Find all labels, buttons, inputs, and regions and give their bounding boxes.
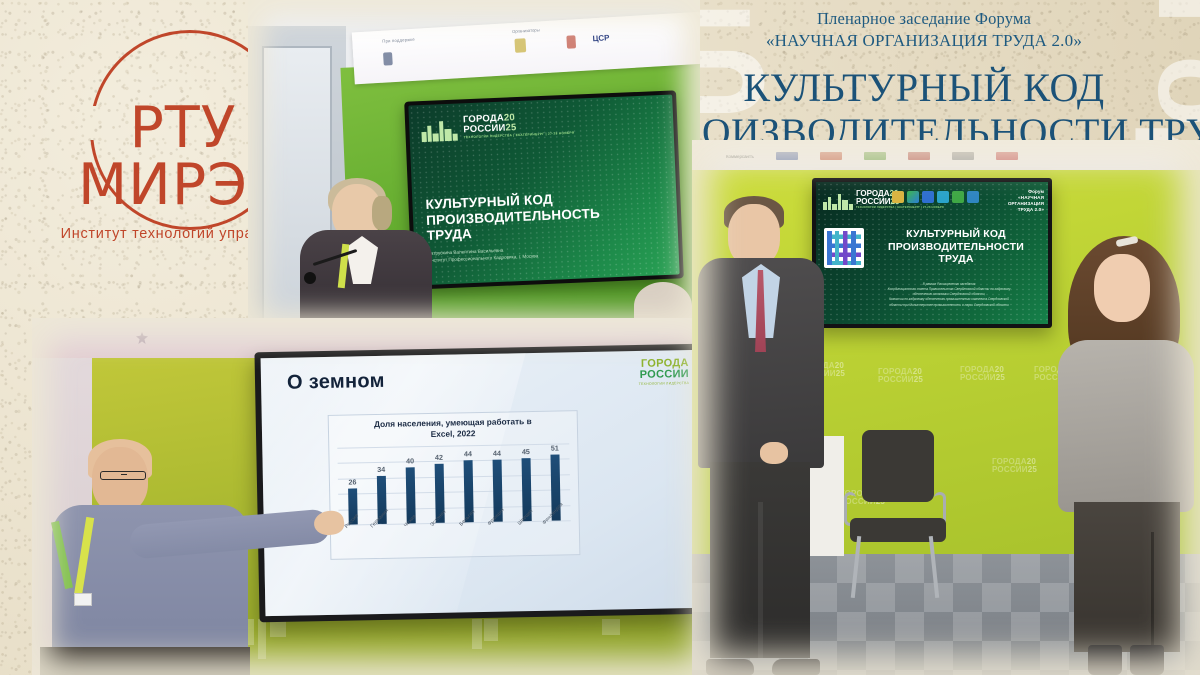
- center-logo-text: ГОРОДА20 РОССИИ25 ТЕХНОЛОГИИ ЛИДЕРСТВА |…: [463, 111, 575, 140]
- r-man-head: [728, 204, 780, 266]
- bl-slide: О земном ГОРОДА РОССИИ ТЕХНОЛОГИИ ЛИДЕРС…: [261, 350, 704, 616]
- r-foot-2: Координационного совета Правительства Св…: [888, 287, 1011, 291]
- banner-label-left: При поддержке: [382, 37, 415, 44]
- r-top-sponsor-logos: Коммерсантъ: [726, 152, 1018, 160]
- r-wall-watermark-4: ГОРОДА20 РОССИИ25: [992, 458, 1037, 474]
- photo-bottomleft-presenter: О земном ГОРОДА РОССИИ ТЕХНОЛОГИИ ЛИДЕРС…: [32, 318, 712, 675]
- bl-tv-screen: О земном ГОРОДА РОССИИ ТЕХНОЛОГИИ ЛИДЕРС…: [254, 344, 709, 623]
- r-woman-sweater: [1058, 340, 1194, 512]
- r-wm4-y2: 25: [1028, 465, 1037, 474]
- badge-blue-icon: [922, 191, 934, 203]
- chair-back: [862, 430, 934, 502]
- skyline-icon: [421, 118, 460, 142]
- r-foot-3: обеспечению экономики Свердловской облас…: [913, 292, 986, 296]
- chart-bar-group: 40: [397, 446, 424, 523]
- r-man-trousers: [710, 462, 810, 658]
- r-woman-head: [1094, 254, 1150, 322]
- r-slide-footer: В рамках Расширенного заседания Координа…: [860, 282, 1038, 308]
- r-sponsor-logo-6-icon: [996, 152, 1018, 160]
- center-tv-screen: ГОРОДА20 РОССИИ25 ТЕХНОЛОГИИ ЛИДЕРСТВА |…: [404, 90, 684, 289]
- chart-category-wrap: Германия: [370, 524, 396, 556]
- r-sponsor-logo-2-icon: [820, 152, 842, 160]
- r-man-hands: [760, 442, 788, 464]
- photo-right-two-people: Коммерсантъ ГОРОДА20 РОССИИ25 ГОРОДА20 Р…: [692, 140, 1200, 675]
- center-speaker-figure: [300, 184, 432, 330]
- r-sponsor-logo-4-icon: [908, 152, 930, 160]
- kicker-line-2: «НАУЧНАЯ ОРГАНИЗАЦИЯ ТРУДА 2.0»: [650, 30, 1198, 53]
- r-woman-boot-left: [1088, 645, 1122, 675]
- r-wm4-l2: РОССИИ: [992, 465, 1028, 474]
- r-sponsor-logo-3-icon: [864, 152, 886, 160]
- badge-green-blue-icon: [907, 191, 919, 203]
- r-top-banner-label: Коммерсантъ: [726, 154, 754, 159]
- r-man-shoe-right: [772, 659, 820, 675]
- center-slide: ГОРОДА20 РОССИИ25 ТЕХНОЛОГИИ ЛИДЕРСТВА |…: [408, 95, 679, 286]
- r-forum-4: ТРУДА 2.0»: [1018, 207, 1044, 212]
- center-slide-title-3: ТРУДА: [426, 226, 472, 243]
- chart-category-wrap: Бельгия: [456, 522, 482, 554]
- bl-presenter-figure: [46, 425, 296, 675]
- chart-title-line1: Доля населения, умеющая работать в: [374, 416, 532, 429]
- chart-category-wrap: Швеция: [514, 521, 540, 553]
- center-logo-line2: РОССИИ: [463, 122, 506, 135]
- bl-logo-tagline: ТЕХНОЛОГИИ ЛИДЕРСТВА: [639, 381, 689, 386]
- chart-bar-value: 51: [551, 444, 559, 453]
- chart-category-wrap: Франция: [485, 521, 511, 553]
- r-foot-4: Комиссии по кадровому обеспечению промыш…: [889, 297, 1009, 301]
- r-forum-2: «НАУЧНАЯ: [1018, 195, 1044, 200]
- chart-bar-value: 34: [377, 465, 385, 474]
- chart-title-line2: Excel, 2022: [431, 428, 476, 439]
- chart-bar-value: 42: [435, 453, 443, 462]
- r-man-shoe-left: [706, 659, 754, 675]
- chart-category-wrap: Россия: [341, 524, 367, 556]
- badge-green-icon: [952, 191, 964, 203]
- r-wall-watermark-3: ГОРОДА20 РОССИИ25: [960, 366, 1005, 382]
- headline-block: Пленарное заседание Форума «НАУЧНАЯ ОРГА…: [650, 8, 1198, 155]
- title-line-1: КУЛЬТУРНЫЙ КОД: [743, 65, 1104, 110]
- chart-category-wrap: Эстония: [427, 523, 453, 555]
- r-foot-1: В рамках Расширенного заседания: [923, 282, 976, 286]
- r-wm3-l2: РОССИИ: [960, 373, 996, 382]
- r-slide-title-2: ПРОИЗВОДИТЕЛЬНОСТИ: [888, 241, 1024, 253]
- center-speaker-hair-side: [372, 196, 392, 230]
- badge-azure-icon: [967, 191, 979, 203]
- r-slide-forum-label: Форум «НАУЧНАЯ ОРГАНИЗАЦИЯ ТРУДА 2.0»: [1008, 189, 1044, 213]
- r-sponsor-logo-5-icon: [952, 152, 974, 160]
- r-wm2-l2: РОССИИ: [878, 375, 914, 384]
- r-chair: [840, 430, 950, 605]
- r-woman-boot-right: [1130, 645, 1164, 675]
- r-wm1-y2: 25: [836, 369, 845, 378]
- bl-presenter-badge: [74, 593, 92, 606]
- bl-slide-title: О земном: [287, 370, 385, 395]
- r-man-figure: [698, 190, 824, 675]
- qr-code-icon: [824, 228, 864, 268]
- kicker-line-1: Пленарное заседание Форума: [650, 8, 1198, 30]
- r-wall-watermark-2: ГОРОДА20 РОССИИ25: [878, 368, 923, 384]
- r-logo-line2: РОССИИ: [856, 197, 891, 206]
- chart-bar-value: 45: [522, 447, 530, 456]
- chart-bar-group: 26: [339, 447, 366, 524]
- chair-leg-right: [929, 536, 939, 598]
- r-slide-title: КУЛЬТУРНЫЙ КОД ПРОИЗВОДИТЕЛЬНОСТИ ТРУДА: [872, 228, 1040, 266]
- sponsor-logo-csr-text: ЦСР: [592, 33, 609, 43]
- sponsor-logo-city-icon: [566, 35, 576, 49]
- r-woman-skirt: [1074, 502, 1180, 652]
- r-woman-figure: [1058, 236, 1194, 675]
- r-slide-title-3: ТРУДА: [938, 253, 973, 265]
- r-forum-3: ОРГАНИЗАЦИЯ: [1008, 201, 1044, 206]
- chart-plot-area: 2634404244444551: [337, 443, 570, 524]
- sponsor-logo-region-icon: [514, 38, 526, 53]
- bl-goroda-rossii-logo: ГОРОДА РОССИИ ТЕХНОЛОГИИ ЛИДЕРСТВА: [638, 358, 689, 386]
- r-slide-partner-badges: [892, 191, 979, 203]
- badge-sverdlovsk-icon: [892, 191, 904, 203]
- r-sponsor-logo-1-icon: [776, 152, 798, 160]
- bl-presenter-head: [92, 447, 148, 513]
- chart-category-wrap: Финляндия: [543, 520, 569, 552]
- center-slide-title: КУЛЬТУРНЫЙ КОД ПРОИЗВОДИТЕЛЬНОСТЬ ТРУДА: [425, 190, 601, 244]
- bl-logo-line2: РОССИИ: [638, 369, 689, 381]
- chart-bar-value: 26: [348, 477, 356, 486]
- photo-center-podium: При поддержке Организаторы ЦСР ГОРОДА20: [248, 0, 700, 330]
- chart-bar-value: 40: [406, 456, 414, 465]
- chart-bar-value: 44: [464, 450, 472, 459]
- bl-podium: [40, 647, 250, 675]
- poster-canvas: Б Года РТУ МИРЭА Институт технологий упр…: [0, 0, 1200, 675]
- chart-bars: 2634404244444551: [337, 443, 570, 524]
- banner-label-right: Организаторы: [512, 27, 540, 34]
- chart-bar-value: 44: [493, 449, 501, 458]
- r-wm3-y2: 25: [996, 373, 1005, 382]
- glasses-icon: [100, 471, 146, 480]
- r-foot-5: области при Министерстве промышленности …: [889, 303, 1008, 307]
- center-microphone-head: [304, 272, 316, 284]
- r-wm2-y2: 25: [914, 375, 923, 384]
- bl-crest-icon: [136, 332, 148, 344]
- chart-bar-group: 45: [513, 444, 540, 521]
- r-slide: ГОРОДА20 РОССИИ25 ТЕХНОЛОГИИ ЛИДЕРСТВА |…: [816, 182, 1048, 324]
- r-tv-screen: ГОРОДА20 РОССИИ25 ТЕХНОЛОГИИ ЛИДЕРСТВА |…: [812, 178, 1052, 328]
- sponsor-logo-ministry-icon: [383, 52, 393, 66]
- chart-title: Доля населения, умеющая работать в Excel…: [329, 415, 577, 442]
- r-top-wall: Коммерсантъ: [692, 140, 1200, 174]
- chart-category-wrap: Чехия: [398, 523, 424, 555]
- chair-leg-left: [851, 536, 861, 598]
- excel-skills-bar-chart: Доля населения, умеющая работать в Excel…: [328, 410, 581, 560]
- center-logo-year2: 25: [505, 122, 516, 133]
- chart-category-labels: РоссияГерманияЧехияЭстонияБельгияФранция…: [339, 520, 572, 556]
- r-skyline-icon: [823, 192, 853, 210]
- r-slide-title-1: КУЛЬТУРНЫЙ КОД: [906, 228, 1006, 240]
- r-forum-1: Форум: [1028, 189, 1044, 194]
- r-logo-tagline: ТЕХНОЛОГИИ ЛИДЕРСТВА | ЕКАТЕРИНБУРГ | 27…: [856, 207, 944, 210]
- badge-cyan-icon: [937, 191, 949, 203]
